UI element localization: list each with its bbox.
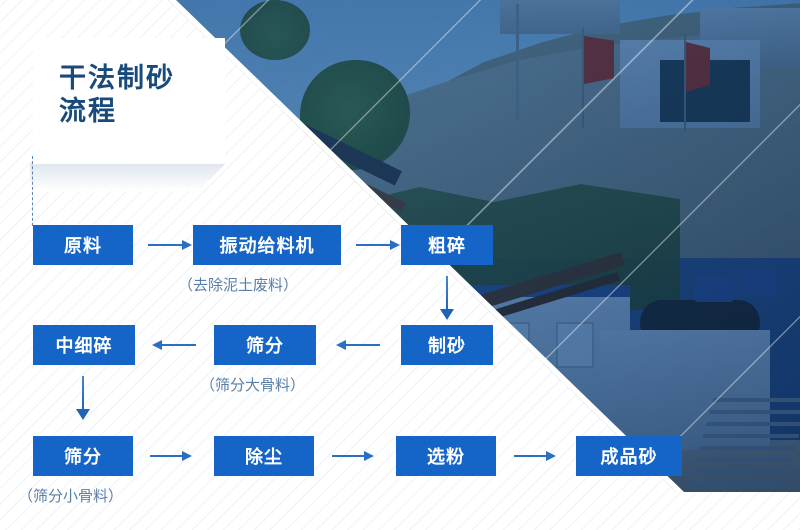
flow-node-zhisha[interactable]: 制砂 xyxy=(401,325,493,365)
title-card-shadow xyxy=(30,163,226,191)
flow-node-shaifen-xiao[interactable]: 筛分 xyxy=(33,436,133,476)
arrow-head xyxy=(182,451,192,461)
arrow-shaft xyxy=(356,244,391,246)
arrow-shaft xyxy=(345,344,380,346)
arrow-shaft xyxy=(82,376,84,411)
arrow-head xyxy=(152,340,162,350)
arrow-head xyxy=(364,451,374,461)
flow-arrow-row2-1 xyxy=(152,338,196,352)
flow-node-zhendonggeiliaoji[interactable]: 振动给料机 xyxy=(193,225,341,265)
arrow-head xyxy=(336,340,346,350)
flow-node-chengpinsha[interactable]: 成品砂 xyxy=(576,436,682,476)
flow-arrow-row1-2 xyxy=(356,238,400,252)
flow-arrow-row3-2 xyxy=(332,449,374,463)
arrow-head xyxy=(440,309,454,320)
flow-note-row2: （筛分大骨料） xyxy=(200,374,305,395)
arrow-head xyxy=(546,451,556,461)
dashed-guide-line xyxy=(32,156,33,226)
flow-arrow-down-zhongxisui-to-shaifen xyxy=(76,376,90,420)
title-card: 干法制砂 流程 xyxy=(33,38,225,164)
flow-node-zhongxisui[interactable]: 中细碎 xyxy=(33,325,135,365)
arrow-shaft xyxy=(446,276,448,311)
arrow-shaft xyxy=(150,455,183,457)
flow-arrow-row2-2 xyxy=(336,338,380,352)
flow-arrow-row3-1 xyxy=(150,449,192,463)
flow-node-xuanfen[interactable]: 选粉 xyxy=(396,436,496,476)
arrow-head xyxy=(390,240,400,250)
flow-arrow-row3-3 xyxy=(514,449,556,463)
arrow-head xyxy=(76,409,90,420)
flow-note-row3: （筛分小骨料） xyxy=(18,485,123,506)
arrow-shaft xyxy=(148,244,183,246)
page-title-line-1: 干法制砂 xyxy=(59,62,175,95)
arrow-shaft xyxy=(332,455,365,457)
flow-arrow-down-cuisui-to-zhisha xyxy=(440,276,454,320)
arrow-head xyxy=(182,240,192,250)
flow-note-row1: （去除泥土废料） xyxy=(178,274,298,295)
arrow-shaft xyxy=(161,344,196,346)
flow-node-chuchen[interactable]: 除尘 xyxy=(214,436,314,476)
flow-node-yuanliao[interactable]: 原料 xyxy=(33,225,133,265)
infographic-canvas: 干法制砂 流程 原料 振动给料机 粗碎 （去除泥土废料） 中细碎 筛分 制砂 （… xyxy=(0,0,800,530)
flow-node-shaifen-da[interactable]: 筛分 xyxy=(214,325,316,365)
flow-arrow-row1-1 xyxy=(148,238,192,252)
flow-node-cuisui[interactable]: 粗碎 xyxy=(401,225,493,265)
arrow-shaft xyxy=(514,455,547,457)
page-title-line-2: 流程 xyxy=(59,95,175,128)
